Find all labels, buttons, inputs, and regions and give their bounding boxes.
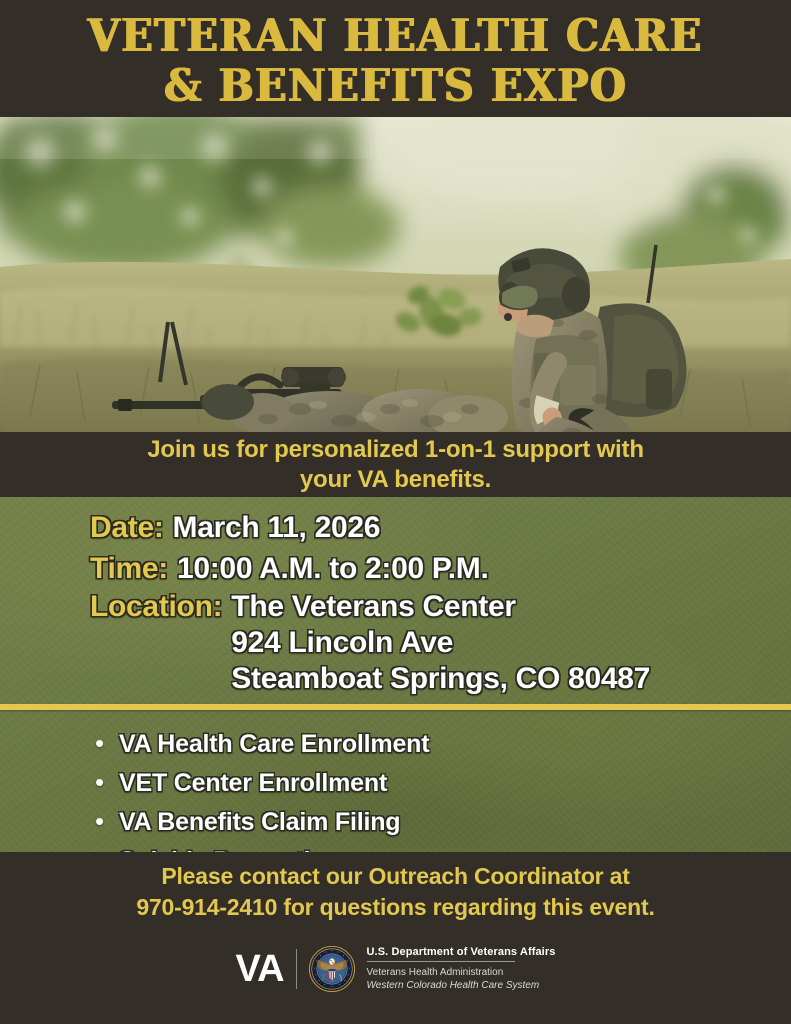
service-label: VET Center Enrollment xyxy=(119,764,387,802)
subtitle-line-1: Join us for personalized 1-on-1 support … xyxy=(147,435,644,465)
bullet-icon: • xyxy=(95,802,119,840)
location-line-1: The Veterans Center xyxy=(231,589,650,625)
list-item: • VA Benefits Claim Filing xyxy=(95,802,791,841)
location-lines: The Veterans Center 924 Lincoln Ave Stea… xyxy=(231,589,650,697)
contact-line-1: Please contact our Outreach Coordinator … xyxy=(161,861,629,892)
list-item: • VET Center Enrollment xyxy=(95,763,791,802)
bullet-icon: • xyxy=(95,724,119,762)
list-item: • VA Health Care Enrollment xyxy=(95,724,791,763)
subtitle-band: Join us for personalized 1-on-1 support … xyxy=(0,432,791,497)
va-seal-icon xyxy=(309,946,355,992)
location-line-2: 924 Lincoln Ave xyxy=(231,625,650,661)
hero-photo xyxy=(0,117,791,432)
agency-name: U.S. Department of Veterans Affairs xyxy=(367,946,556,961)
location-label: Location: xyxy=(90,589,222,625)
va-wordmark: VA xyxy=(236,949,284,989)
date-label: Date: xyxy=(90,507,164,548)
contact-section: Please contact our Outreach Coordinator … xyxy=(0,852,791,932)
bullet-icon: • xyxy=(95,763,119,801)
title-line-2: & BENEFITS EXPO xyxy=(164,61,627,111)
hero-photo-illustration xyxy=(0,117,791,432)
title-line-1: VETERAN HEALTH CARE xyxy=(88,11,703,61)
location-line-3: Steamboat Springs, CO 80487 xyxy=(231,661,650,697)
agency-subline-2: Western Colorado Health Care System xyxy=(367,979,556,992)
footer-logo-section: VA xyxy=(0,932,791,1024)
date-row: Date: March 11, 2026 xyxy=(90,507,791,548)
va-logo-lockup: VA xyxy=(236,946,556,992)
agency-subline-1: Veterans Health Administration xyxy=(367,966,556,979)
location-row: Location: The Veterans Center 924 Lincol… xyxy=(90,589,791,697)
service-label: VA Health Care Enrollment xyxy=(119,725,429,763)
services-list: • VA Health Care Enrollment • VET Center… xyxy=(0,710,791,852)
contact-line-2: 970-914-2410 for questions regarding thi… xyxy=(136,892,654,923)
list-item: • Suicide Prevention xyxy=(95,841,791,852)
event-details-section: Date: March 11, 2026 Time: 10:00 A.M. to… xyxy=(0,497,791,852)
subtitle-line-2: your VA benefits. xyxy=(300,465,491,495)
time-label: Time: xyxy=(90,548,168,589)
logo-divider xyxy=(296,949,297,989)
title-band: VETERAN HEALTH CARE & BENEFITS EXPO xyxy=(0,0,791,117)
service-label: VA Benefits Claim Filing xyxy=(119,803,400,841)
bullet-icon: • xyxy=(95,841,119,852)
time-row: Time: 10:00 A.M. to 2:00 P.M. xyxy=(90,548,791,589)
date-value: March 11, 2026 xyxy=(173,507,381,548)
agency-divider xyxy=(367,961,515,962)
agency-text-block: U.S. Department of Veterans Affairs Vete… xyxy=(367,946,556,992)
flyer-poster: VETERAN HEALTH CARE & BENEFITS EXPO xyxy=(0,0,791,1024)
event-details-list: Date: March 11, 2026 Time: 10:00 A.M. to… xyxy=(0,497,791,697)
service-label: Suicide Prevention xyxy=(119,842,340,852)
time-value: 10:00 A.M. to 2:00 P.M. xyxy=(177,548,489,589)
